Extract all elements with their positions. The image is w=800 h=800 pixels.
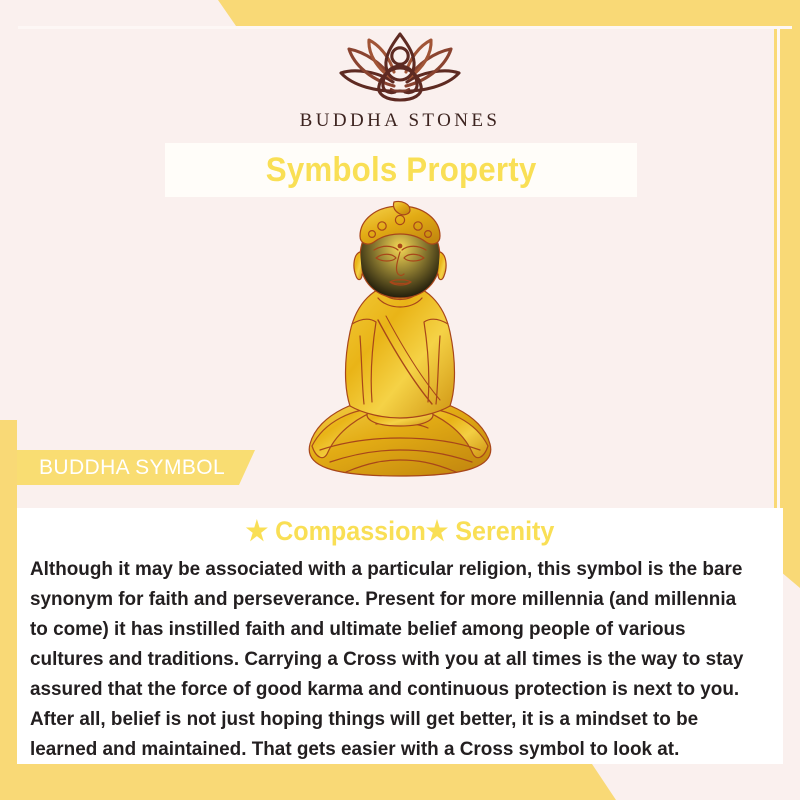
top-accent-band — [0, 0, 800, 26]
golden-buddha-statue-icon — [290, 200, 510, 490]
section-ribbon: BUDDHA SYMBOL — [17, 450, 255, 485]
content-subtitle: ★ Compassion★ Serenity — [44, 516, 756, 547]
left-accent-band — [0, 420, 17, 800]
page-title: Symbols Property — [266, 151, 537, 190]
lotus-meditation-icon — [305, 28, 495, 106]
section-ribbon-label: BUDDHA SYMBOL — [17, 456, 225, 480]
brand-header: BUDDHA STONES — [0, 28, 800, 132]
hero-image — [290, 200, 510, 490]
infographic-page: BUDDHA STONES Symbols Property — [0, 0, 800, 800]
title-banner: Symbols Property — [165, 143, 637, 197]
brand-wordmark: BUDDHA STONES — [0, 110, 800, 132]
bottom-accent-band — [0, 764, 640, 800]
content-paragraph: Although it may be associated with a par… — [30, 554, 745, 764]
content-panel: ★ Compassion★ Serenity Although it may b… — [17, 508, 783, 764]
